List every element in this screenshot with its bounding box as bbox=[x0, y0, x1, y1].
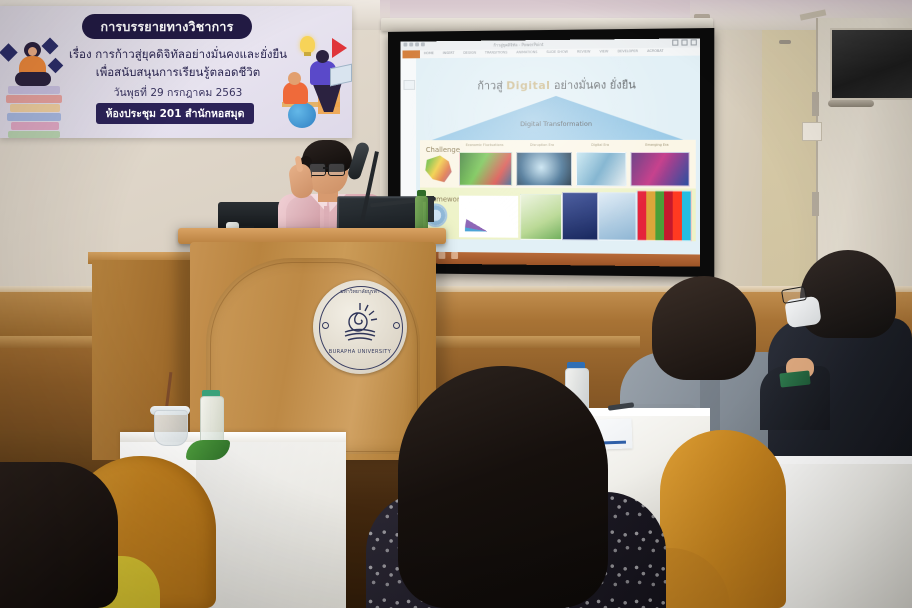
tablecloth-drape bbox=[196, 442, 346, 608]
door-glass-panel bbox=[830, 28, 912, 100]
event-banner: การบรรยายทางวิชาการ เรื่อง การก้าวสู่ยุค… bbox=[0, 6, 352, 138]
ribbon-tab-transitions[interactable]: TRANSITIONS bbox=[485, 50, 507, 54]
maximize-icon[interactable] bbox=[681, 39, 687, 45]
thumbnail-disruption bbox=[516, 152, 572, 186]
seal-thai-text: มหาวิทยาลัยบูรพา bbox=[328, 288, 392, 296]
attendee-gray-shirt-head bbox=[652, 276, 756, 380]
slide-title: ก้าวสู่ Digital อย่างมั่นคง ยั่งยืน bbox=[426, 75, 690, 95]
banner-title: การบรรยายทางวิชาการ bbox=[100, 17, 233, 37]
ribbon-tab-developer[interactable]: DEVELOPER bbox=[617, 49, 637, 53]
thumbnail-economic bbox=[459, 152, 512, 186]
ribbon-tab-insert[interactable]: INSERT bbox=[443, 51, 455, 55]
ribbon-tab-acrobat[interactable]: ACROBAT bbox=[647, 49, 663, 53]
column-header-emerging: Emerging Era bbox=[630, 143, 683, 147]
save-icon[interactable] bbox=[403, 43, 407, 47]
ribbon-tab-design[interactable]: DESIGN bbox=[463, 51, 476, 55]
globe-icon bbox=[288, 102, 316, 128]
ribbon-tab-animations[interactable]: ANIMATIONS bbox=[516, 50, 537, 54]
banner-subtitle-line-1: เรื่อง การก้าวสู่ยุคดิจิทัลอย่างมั่นคงแล… bbox=[18, 46, 338, 64]
banner-title-pill: การบรรยายทางวิชาการ bbox=[82, 14, 252, 39]
taskbar-app-icon[interactable] bbox=[451, 252, 458, 259]
attendee-dark-suit-head bbox=[800, 250, 896, 338]
seal-english-text: BURAPHA UNIVERSITY bbox=[326, 349, 394, 355]
ribbon-tab-home[interactable]: HOME bbox=[424, 51, 434, 55]
plastic-cup bbox=[154, 410, 188, 446]
seal-dot-left bbox=[322, 322, 329, 329]
door-hinge bbox=[812, 92, 819, 116]
attendee-yellow-top-head bbox=[0, 462, 118, 608]
banner-subtitle-line-2: เพื่อสนับสนุนการเรียนรู้ตลอดชีวิต bbox=[18, 64, 338, 82]
seal-dot-right bbox=[393, 322, 400, 329]
banner-room-label: ห้องประชุม 201 สำนักหอสมุด bbox=[106, 105, 245, 122]
quick-access-toolbar[interactable] bbox=[403, 42, 424, 46]
door-hinge bbox=[812, 192, 819, 216]
thumbnail-framework-4 bbox=[598, 192, 636, 241]
column-header-economic: Economic Fluctuations bbox=[459, 143, 510, 147]
lecture-room-photo: การบรรยายทางวิชาการ เรื่อง การก้าวสู่ยุค… bbox=[0, 0, 912, 608]
seal-emblem-icon bbox=[338, 300, 382, 344]
close-icon[interactable] bbox=[691, 39, 697, 45]
powerpoint-window-title: ก้าวสู่ยุคดิจิทัล - PowerPoint bbox=[493, 41, 543, 49]
screen-housing-bracket bbox=[779, 40, 791, 44]
attendee-floral-top-head bbox=[398, 366, 608, 608]
light-switch-plate[interactable] bbox=[802, 122, 822, 141]
undo-icon[interactable] bbox=[409, 43, 413, 47]
column-header-digital: Digital Era bbox=[576, 143, 624, 147]
slide-title-post: อย่างมั่นคง ยั่งยืน bbox=[550, 78, 635, 92]
ribbon-file-tab[interactable] bbox=[403, 50, 420, 58]
ribbon-tab-slideshow[interactable]: SLIDE SHOW bbox=[546, 50, 568, 54]
ribbon-tab-view[interactable]: VIEW bbox=[599, 49, 608, 53]
banner-date: วันพุธที่ 29 กรกฎาคม 2563 bbox=[18, 84, 338, 101]
banner-room-pill: ห้องประชุม 201 สำนักหอสมุด bbox=[96, 103, 254, 124]
slideshow-icon[interactable] bbox=[421, 42, 425, 46]
thumbnail-framework-2 bbox=[520, 194, 562, 240]
minimize-icon[interactable] bbox=[672, 40, 678, 46]
challenge-label: Challenge bbox=[426, 146, 460, 154]
thumbnail-emerging bbox=[630, 152, 689, 186]
thumbnail-sdg-goals bbox=[637, 190, 692, 241]
redo-icon[interactable] bbox=[415, 42, 419, 46]
green-water-bottle bbox=[415, 196, 428, 232]
speaker-glasses-bridge bbox=[323, 167, 329, 169]
window-controls[interactable] bbox=[672, 39, 697, 45]
slide-title-accent: Digital bbox=[506, 79, 550, 92]
thumbnail-framework-report bbox=[562, 192, 598, 240]
speaker-glasses-right-lens bbox=[328, 163, 345, 176]
ribbon-tab-review[interactable]: REVIEW bbox=[577, 50, 590, 54]
roof-label: Digital Transformation bbox=[432, 120, 684, 129]
column-header-disruption: Disruption Era bbox=[516, 143, 568, 147]
thumbnail-digital bbox=[576, 152, 626, 186]
speaker-glasses-left-lens bbox=[309, 163, 326, 176]
table-right-edge bbox=[758, 456, 912, 464]
door-handle[interactable] bbox=[828, 100, 874, 107]
slide-thumbnail[interactable] bbox=[403, 80, 415, 90]
slide-title-pre: ก้าวสู่ bbox=[477, 79, 506, 92]
